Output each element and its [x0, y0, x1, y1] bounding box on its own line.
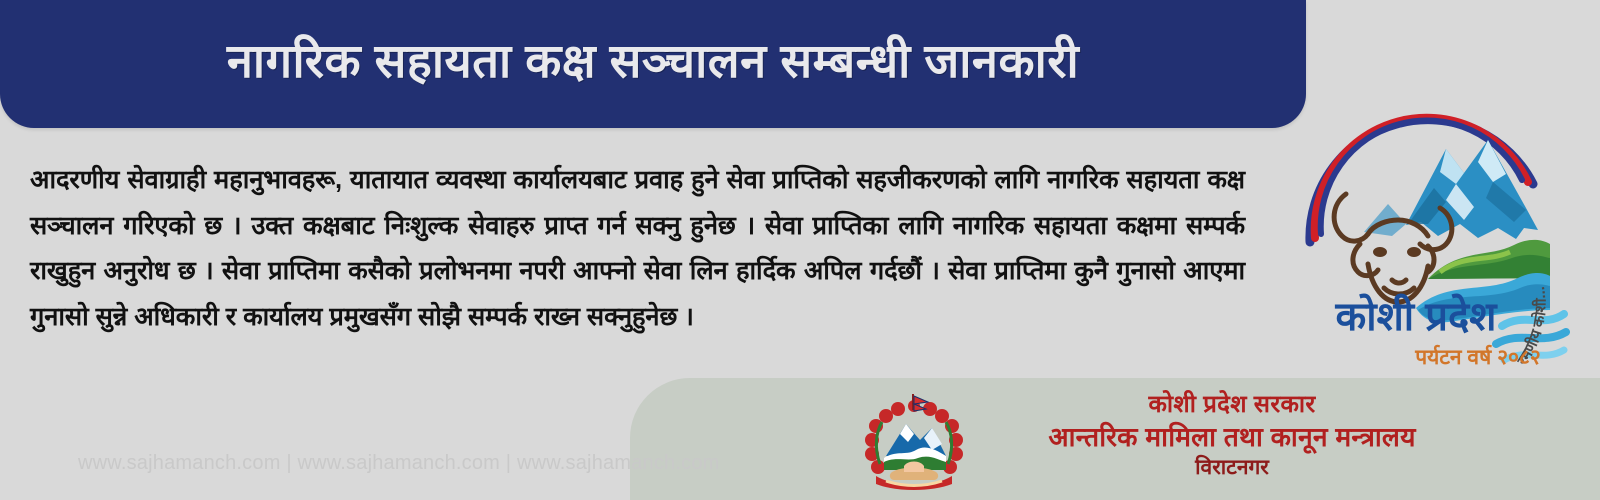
- government-name: कोशी प्रदेश सरकार: [982, 390, 1482, 420]
- page-title: नागरिक सहायता कक्ष सञ्चालन सम्बन्धी जानक…: [187, 36, 1119, 91]
- title-banner: नागरिक सहायता कक्ष सञ्चालन सम्बन्धी जानक…: [0, 0, 1306, 128]
- ministry-name: आन्तरिक मामिला तथा कानून मन्त्रालय: [982, 420, 1482, 454]
- nepal-flag-icon: [912, 394, 928, 411]
- ministry-identity-block: कोशी प्रदेश सरकार आन्तरिक मामिला तथा कान…: [862, 390, 1482, 494]
- ministry-city: विराटनगर: [982, 454, 1482, 482]
- logo-tagline: पर्यटन वर्ष २०८२: [1414, 344, 1541, 369]
- notice-body-text: आदरणीय सेवाग्राही महानुभावहरू, यातायात व…: [30, 158, 1245, 340]
- ministry-text-lines: कोशी प्रदेश सरकार आन्तरिक मामिला तथा कान…: [982, 390, 1482, 482]
- logo-province-name: कोशी प्रदेश: [1335, 293, 1499, 339]
- koshi-tourism-logo: रमणीय कोशी... कोशी प्रदेश पर्यटन वर्ष २०…: [1288, 112, 1588, 390]
- mountain-icon: [884, 424, 946, 462]
- public-notice-poster: नागरिक सहायता कक्ष सञ्चालन सम्बन्धी जानक…: [0, 0, 1600, 500]
- hills-and-hands-icon: [884, 457, 946, 480]
- site-watermark: www.sajhamanch.com | www.sajhamanch.com …: [78, 452, 720, 475]
- nepal-government-emblem: [862, 392, 966, 492]
